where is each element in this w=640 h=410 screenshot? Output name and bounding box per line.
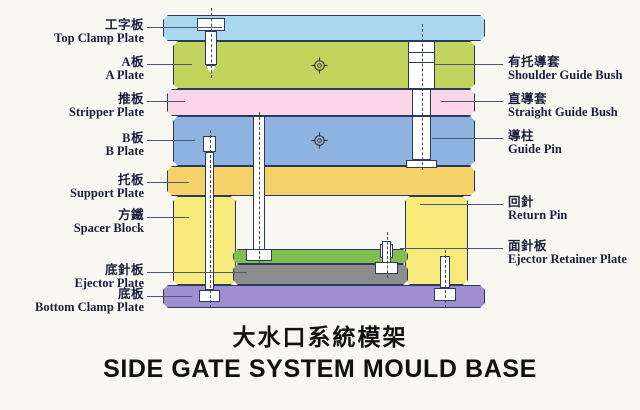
leader-stripper-plate — [147, 101, 185, 102]
label-straight-guide-bush: 直導套 Straight Guide Bush — [508, 93, 618, 119]
leader-ejector-plate — [147, 272, 247, 273]
bottom-screw-centerline — [445, 250, 446, 308]
crosshair-icon-b-plate — [311, 132, 328, 149]
leader-ejector-retainer-plate — [400, 248, 503, 249]
leader-support-plate — [147, 182, 189, 183]
label-shoulder-guide-bush: 有托導套 Shoulder Guide Bush — [508, 56, 622, 82]
label-stripper-plate: 推板 Stripper Plate — [69, 93, 144, 119]
label-return-pin: 回針 Return Pin — [508, 196, 567, 222]
label-spacer-block-en: Spacer Block — [74, 222, 144, 235]
leader-b-plate — [147, 140, 195, 141]
centre-sleeve-centerline — [259, 112, 260, 264]
label-support-plate-en: Support Plate — [70, 187, 144, 200]
title-chinese: 大水口系統模架 — [0, 318, 640, 352]
label-a-plate-en: A Plate — [105, 69, 144, 82]
diagram-title: 大水口系統模架 SIDE GATE SYSTEM MOULD BASE — [0, 318, 640, 384]
cap-screw-centerline — [211, 8, 212, 78]
guide-pin-centerline — [422, 24, 423, 170]
label-guide-pin: 導柱 Guide Pin — [508, 130, 562, 156]
ejector-pin-centerline — [210, 130, 211, 308]
leader-return-pin — [420, 204, 503, 205]
label-bottom-clamp-plate-en: Bottom Clamp Plate — [35, 301, 144, 314]
label-support-plate: 托板 Support Plate — [70, 174, 144, 200]
return-pin-centerline — [387, 232, 388, 278]
label-a-plate: A板 A Plate — [105, 56, 144, 82]
leader-shoulder-guide-bush — [435, 64, 503, 65]
leader-top-clamp-plate — [147, 27, 222, 28]
label-return-pin-en: Return Pin — [508, 209, 567, 222]
label-ejector-retainer-plate-en: Ejector Retainer Plate — [508, 253, 627, 266]
plate-spacer-block-right — [405, 196, 468, 285]
leader-spacer-block — [147, 217, 189, 218]
leader-guide-pin — [432, 138, 503, 139]
leader-a-plate — [147, 64, 192, 65]
label-b-plate-en: B Plate — [105, 145, 144, 158]
label-guide-pin-en: Guide Pin — [508, 143, 562, 156]
label-straight-guide-bush-en: Straight Guide Bush — [508, 106, 618, 119]
leader-straight-guide-bush — [441, 101, 503, 102]
label-shoulder-guide-bush-en: Shoulder Guide Bush — [508, 69, 622, 82]
leader-bottom-clamp-plate — [147, 296, 192, 297]
label-b-plate: B板 B Plate — [105, 132, 144, 158]
label-top-clamp-plate-en: Top Clamp Plate — [54, 32, 144, 45]
title-english: SIDE GATE SYSTEM MOULD BASE — [0, 355, 640, 384]
label-bottom-clamp-plate: 底板 Bottom Clamp Plate — [35, 288, 144, 314]
label-ejector-retainer-plate: 面針板 Ejector Retainer Plate — [508, 240, 627, 266]
crosshair-icon-a-plate — [311, 57, 328, 74]
label-top-clamp-plate: 工字板 Top Clamp Plate — [54, 19, 144, 45]
label-stripper-plate-en: Stripper Plate — [69, 106, 144, 119]
mould-base-diagram: 工字板 Top Clamp Plate A板 A Plate 推板 Stripp… — [0, 0, 640, 410]
label-spacer-block: 方鐵 Spacer Block — [74, 209, 144, 235]
